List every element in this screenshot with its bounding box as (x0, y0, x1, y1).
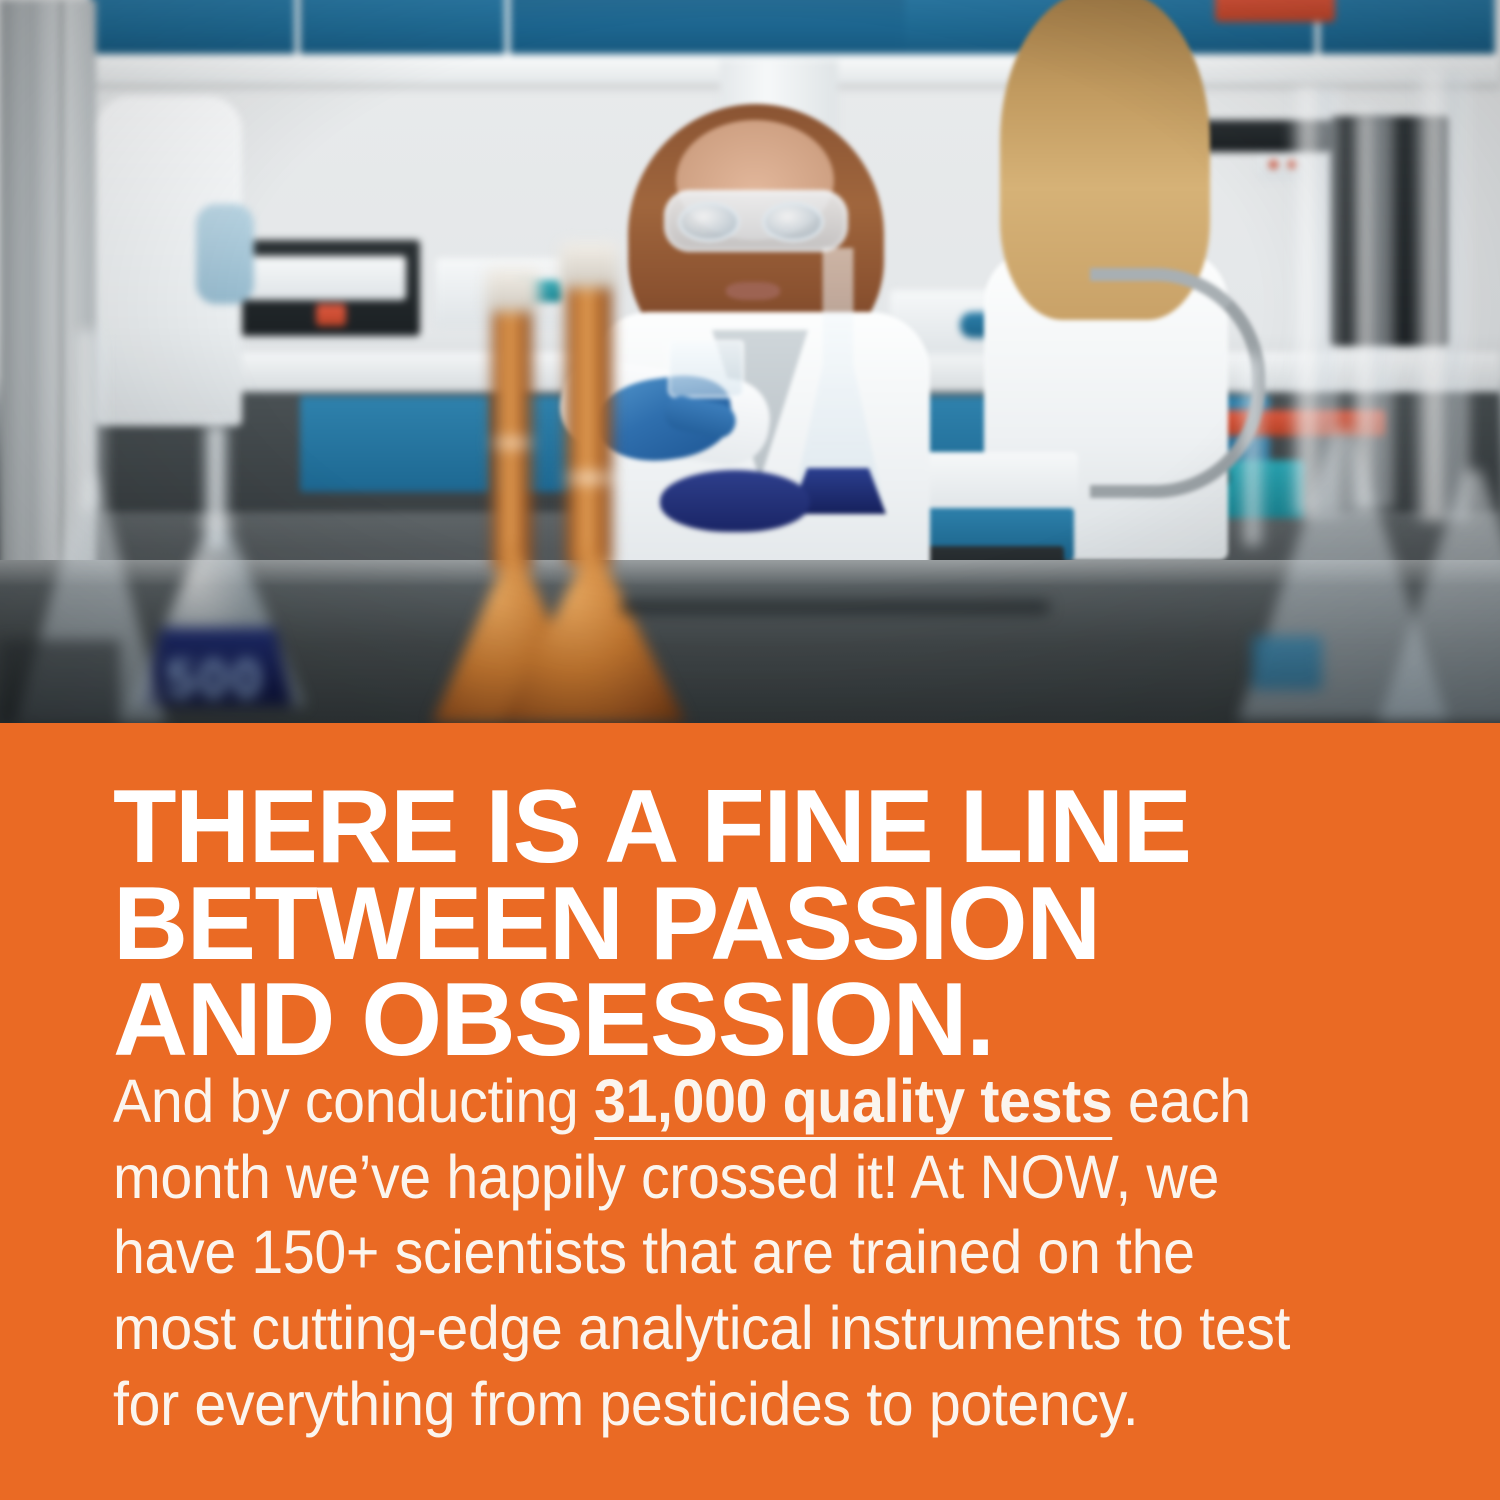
body-copy: And by conducting 31,000 quality tests e… (113, 1064, 1326, 1442)
lab-photo: 500 (0, 0, 1500, 723)
photo-vignette (0, 0, 1500, 723)
ad-card: 500 THERE IS A FINE LINE BETWEEN PASSION… (0, 0, 1500, 1500)
body-copy-emphasis: 31,000 quality tests (594, 1067, 1112, 1140)
orange-text-panel: THERE IS A FINE LINE BETWEEN PASSION AND… (0, 723, 1500, 1500)
body-copy-before: And by conducting (113, 1067, 594, 1135)
page-title: THERE IS A FINE LINE BETWEEN PASSION AND… (113, 779, 1413, 1069)
